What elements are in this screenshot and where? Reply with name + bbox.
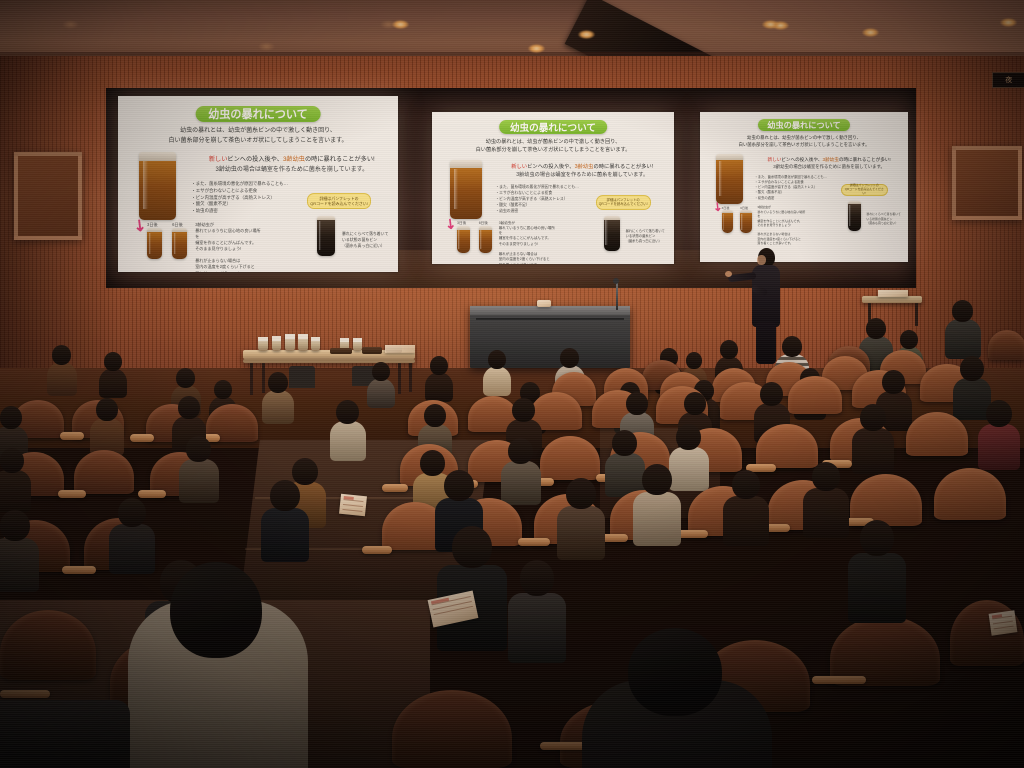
audience-head: [372, 362, 390, 381]
slide-bullet-item: ・幼虫の過密: [755, 196, 828, 201]
slide-caption-line: （菌糸も真っ白に近い）: [866, 221, 900, 225]
slide-jar-day3: [722, 210, 734, 233]
slide-highlight-c: 3齢幼虫: [575, 164, 594, 170]
slide-lead-line-1: 幼虫の暴れとは、幼虫が菌糸ビンの中で激しく動き回り、: [700, 135, 908, 141]
presentation-slide: 幼虫の暴れについて幼虫の暴れとは、幼虫が菌糸ビンの中で激しく動き回り、白い菌糸部…: [700, 112, 908, 262]
audience-torso: [0, 470, 31, 512]
seat-armrest: [382, 484, 408, 492]
audience-torso: [179, 459, 219, 503]
slide-calm-culture-jar: [848, 201, 862, 231]
slide-main-culture-jar: [139, 152, 176, 220]
slide-bullet-list: ・また、菌糸環境の悪化が原因で暴れることも…・エサが合わないことによる拒食・ビン…: [495, 185, 579, 214]
audience-head: [512, 398, 535, 422]
audience-head: [860, 404, 886, 431]
ceiling-downlight: [578, 30, 595, 39]
slide-paragraph-line: 落ち着くことが多いです。: [499, 263, 557, 265]
presentation-slide: 幼虫の暴れについて幼虫の暴れとは、幼虫が菌糸ビンの中で激しく動き回り、白い菌糸部…: [432, 112, 674, 264]
pamphlet[interactable]: [339, 494, 367, 517]
slide-caption-line: （菌糸も真っ白に近い）: [342, 243, 388, 249]
audience-torso: [47, 362, 77, 396]
audience-head: [732, 470, 760, 499]
audience-head: [612, 430, 637, 456]
side-table-paper: [878, 290, 908, 297]
seat-armrest: [812, 676, 866, 684]
slide-highlight-line-1: 新しいビンへの投入後や、3齢幼虫の時に暴れることが多い!: [750, 157, 908, 163]
audience-head: [118, 498, 146, 527]
slide-jar-day3: [147, 228, 162, 259]
seat-armrest: [0, 690, 50, 698]
audience-head: [0, 510, 30, 541]
pamphlet-text-line: [994, 626, 1014, 630]
screen-right: 幼虫の暴れについて幼虫の暴れとは、幼虫が菌糸ビンの中で激しく動き回り、白い菌糸部…: [700, 112, 908, 262]
pamphlet-text-line: [343, 504, 363, 507]
screen-left: 幼虫の暴れについて幼虫の暴れとは、幼虫が菌糸ビンの中で激しく動き回り、白い菌糸部…: [118, 96, 398, 272]
pamphlet-text-line: [342, 509, 362, 512]
slide-calm-culture-jar: [317, 216, 335, 257]
audience-head: [760, 382, 783, 406]
slide-highlight-a: 新しい: [209, 156, 228, 163]
seat-armrest: [62, 566, 96, 574]
slide-paragraph-line: 暴れているうちに居心地の良い場所を: [499, 226, 557, 237]
slide-highlight-line-2: 3齢幼虫の場合は蛹室を作るために菌糸を崩しています。: [490, 172, 674, 179]
audience-head: [424, 404, 446, 427]
slide-paragraph-line: 室内の温度を2度くらい下げると: [499, 257, 557, 262]
slide-caption-line: 暴れにくらべて落ち着いて: [626, 229, 665, 234]
seat-armrest: [58, 490, 86, 498]
audience-head: [420, 450, 445, 476]
ceiling-downlight: [528, 44, 545, 53]
slide-note-line-2: QRコードを読み込んでください!: [844, 188, 885, 196]
slide-paragraph-line: 暴れているうちに居心地の良い場所を: [195, 228, 263, 240]
slide-middle-paragraph: 3齢幼虫が暴れているうちに居心地の良い場所を蛹室を作ることにがんばんです。そのま…: [757, 205, 807, 246]
slide-lead-line-2: 白い菌糸部分を崩して茶色いオガ状にしてしまうことを言います。: [700, 142, 908, 148]
slide-lead-line-1: 幼虫の暴れとは、幼虫が菌糸ビンの中で激しく動き回り、: [118, 127, 398, 136]
ceiling-downlight: [762, 20, 779, 29]
audience-head: [488, 350, 506, 369]
slide-lead-line-1: 幼虫の暴れとは、幼虫が菌糸ビンの中で激しく動き回り、: [432, 139, 674, 147]
audience-head: [444, 470, 474, 501]
seat-armrest: [60, 432, 84, 440]
slide-title: 幼虫の暴れについて: [499, 120, 607, 134]
slide-note-line-2: QRコードを読み込んでください!: [310, 201, 368, 206]
seat-armrest: [138, 490, 166, 498]
audience-torso: [109, 524, 155, 574]
stage-chair: [289, 366, 315, 388]
audience-head: [270, 480, 300, 511]
slide-note-line-2: QRコードを読み込んでください!: [599, 202, 648, 206]
audience-head: [104, 352, 122, 371]
foreground-head-right: [628, 628, 722, 716]
slide-jar-caption: 6日後: [172, 222, 183, 228]
audience-torso: [99, 368, 127, 398]
auditorium-seat[interactable]: [988, 330, 1024, 360]
slide-jar-caption: 3日後: [147, 222, 158, 228]
audience-head: [186, 436, 211, 462]
audience-torso: [261, 508, 309, 562]
ceiling-downlight: [380, 20, 397, 29]
slide-highlight-line-1: 新しいビンへの投入後や、3齢幼虫の時に暴れることが多い!: [186, 156, 398, 165]
side-table: [862, 296, 922, 303]
audience-torso: [0, 538, 39, 592]
audience-head: [866, 318, 886, 339]
ceiling-downlight: [258, 42, 275, 51]
audience-head: [452, 526, 492, 568]
slide-jar-day6: [479, 226, 492, 253]
audience-head: [720, 340, 738, 359]
slide-highlight-line-2: 3齢幼虫の場合は蛹室を作るために菌糸を崩しています。: [186, 166, 398, 174]
ceiling-downlight: [862, 28, 879, 37]
slide-lead-line-2: 白い菌糸部分を崩して茶色いオガ状にしてしまうことを言います。: [432, 147, 674, 155]
audience-torso: [633, 492, 681, 546]
wall-clock-display: 夜: [992, 72, 1024, 88]
slide-highlight-line-1: 新しいビンへの投入後や、3齢幼虫の時に暴れることが多い!: [490, 164, 674, 171]
audience-head: [684, 392, 706, 415]
audience-head: [686, 352, 702, 369]
slide-highlight-b: ビンへの投入後や、: [527, 164, 575, 170]
audience-head: [176, 368, 195, 388]
slide-lead-line-2: 白い菌糸部分を崩して茶色いオガ状にしてしまうことを言います。: [118, 137, 398, 146]
audience-head: [626, 392, 648, 415]
presentation-slide: 幼虫の暴れについて幼虫の暴れとは、幼虫が菌糸ビンの中で激しく動き回り、白い菌糸部…: [118, 96, 398, 272]
audience-head: [268, 372, 288, 393]
audience-torso: [669, 447, 709, 491]
slide-right-caption: 暴れにくらべて落ち着いている状態の菌糸ビン（菌糸も真っ白に近い）: [342, 231, 388, 249]
side-table-leg: [915, 303, 918, 326]
wall-display-text: 夜: [1005, 75, 1013, 85]
slide-title: 幼虫の暴れについて: [196, 106, 321, 122]
slide-jar-caption: 6日後: [479, 221, 488, 226]
slide-middle-paragraph: 3齢幼虫が暴れているうちに居心地の良い場所を蛹室を作ることにがんばんです。そのま…: [499, 221, 557, 265]
slide-paragraph-line: 落ち着くことが多いです。: [757, 241, 807, 246]
audience-head: [560, 348, 579, 368]
audience-head: [566, 478, 596, 509]
auditorium-seat[interactable]: [934, 468, 1006, 520]
slide-highlight-d: の時に暴れることが多い!: [839, 157, 891, 162]
slide-bullet-item: ・エサが合わないことによる拒食: [191, 188, 288, 195]
slide-bullet-list: ・また、菌糸環境の悪化が原因で暴れることも…・エサが合わないことによる拒食・ビン…: [191, 181, 288, 215]
audience-head: [676, 424, 701, 450]
auditorium-seat[interactable]: [74, 450, 134, 494]
slide-jar-caption: 3日後: [457, 221, 466, 226]
slide-highlight-a: 新しい: [511, 164, 527, 170]
seat-armrest: [362, 546, 392, 554]
slide-main-culture-jar: [716, 154, 743, 204]
audience-head: [952, 300, 973, 322]
slide-paragraph-line: 落ち着くことが多いです。: [195, 271, 263, 272]
slide-title: 幼虫の暴れについて: [758, 119, 850, 131]
slide-highlight-d: の時に暴れることが多い!: [305, 156, 375, 163]
audience-head: [336, 400, 359, 424]
slide-highlight-b: ビンへの投入後や、: [227, 156, 283, 163]
auditorium-photo: 夜 幼虫の暴れについて幼虫の暴れとは、幼虫が菌糸ビンの中で激しく動き回り、白い菌…: [0, 0, 1024, 768]
audience-torso: [508, 593, 566, 663]
audience-head: [642, 464, 672, 495]
slide-caption-line: （菌糸も真っ白に近い）: [626, 239, 665, 244]
slide-jar-day3: [457, 226, 470, 253]
audience-torso: [803, 488, 849, 538]
audience-head: [986, 400, 1012, 427]
audience-head: [96, 398, 118, 421]
audience-torso: [501, 461, 541, 505]
pamphlet-text-line: [993, 621, 1013, 625]
audience-head: [430, 356, 448, 375]
slide-highlight-a: 新しい: [768, 157, 782, 162]
audience-head: [782, 336, 802, 357]
audience-head: [0, 406, 22, 429]
audience-torso: [367, 378, 395, 408]
audience-torso: [425, 372, 453, 402]
seat-armrest: [518, 538, 550, 546]
audience-torso: [978, 424, 1020, 470]
audience-head: [960, 356, 984, 381]
slide-calm-culture-jar: [604, 216, 620, 251]
audience-head: [860, 520, 894, 556]
left-foreground-torso: [0, 700, 130, 768]
pamphlet[interactable]: [989, 610, 1018, 635]
slide-main-culture-jar: [450, 160, 482, 218]
audience-torso: [723, 496, 769, 546]
audience-torso: [848, 553, 906, 623]
audience-head: [214, 380, 232, 399]
slide-middle-paragraph: 3齢幼虫が暴れているうちに居心地の良い場所を蛹室を作ることにがんばんです。そのま…: [195, 222, 263, 273]
slide-paragraph-line: 室内の温度を2度くらい下げると: [195, 264, 263, 270]
screen-center: 幼虫の暴れについて幼虫の暴れとは、幼虫が菌糸ビンの中で激しく動き回り、白い菌糸部…: [432, 112, 674, 264]
audience-head: [812, 462, 840, 491]
slide-qr-note-box: 詳細はパンフレットのQRコードを読み込んでください!: [307, 193, 371, 209]
slide-paragraph-line: 暴れているうちに居心地の良い場所を: [757, 210, 807, 219]
audience-torso: [852, 428, 894, 474]
audience-torso: [945, 319, 981, 359]
audience-head: [900, 330, 918, 349]
audience-head: [508, 438, 533, 464]
audience-head: [52, 345, 71, 365]
slide-highlight-b: ビンへの投入後や、: [781, 157, 822, 162]
foreground-head: [170, 562, 262, 658]
ceiling-downlight: [62, 20, 79, 29]
slide-paragraph-line: 蛹室を作ることにがんばんです。: [499, 236, 557, 241]
audience-head: [178, 396, 200, 419]
slide-bullet-item: ・幼虫の過密: [495, 209, 579, 215]
audience-torso: [262, 390, 294, 424]
slide-jar-day6: [172, 228, 187, 259]
audience-head: [520, 560, 554, 596]
slide-bullet-list: ・また、菌糸環境の悪化が原因で暴れることも…・エサが合わないことによる拒食・ビン…: [755, 175, 828, 201]
audience-torso: [483, 366, 511, 396]
audience-head: [292, 458, 318, 485]
seat-armrest: [130, 434, 154, 442]
audience-torso: [557, 506, 605, 560]
slide-bullet-item: ・幼虫の過密: [191, 208, 288, 215]
slide-highlight-line-2: 3齢幼虫の場合は蛹室を作るために菌糸を崩しています。: [750, 164, 908, 170]
slide-highlight-c: 3齢幼虫: [823, 157, 839, 162]
slide-highlight-d: の時に暴れることが多い!: [593, 164, 653, 170]
ceiling-downlight: [1000, 18, 1017, 27]
audience-head: [882, 370, 905, 394]
wall-art-panel-right: [952, 146, 1022, 220]
slide-highlight-c: 3齢幼虫: [283, 156, 305, 163]
wall-art-panel-left: [14, 152, 82, 240]
audience-head: [0, 448, 24, 473]
slide-jar-day6: [740, 210, 752, 233]
slide-qr-note-box: 詳細はパンフレットのQRコードを読み込んでください!: [596, 195, 651, 209]
slide-right-caption: 暴れにくらべて落ち着いている状態の菌糸ビン（菌糸も真っ白に近い）: [626, 229, 665, 244]
audience-torso: [330, 421, 366, 461]
slide-qr-note-box: 詳細はパンフレットのQRコードを読み込んでください!: [841, 184, 888, 196]
slide-bullet-item: ・また、菌糸環境の悪化が原因で暴れることも…: [191, 181, 288, 188]
slide-right-caption: 暴れにくらべて落ち着いている状態の菌糸ビン（菌糸も真っ白に近い）: [866, 212, 900, 225]
